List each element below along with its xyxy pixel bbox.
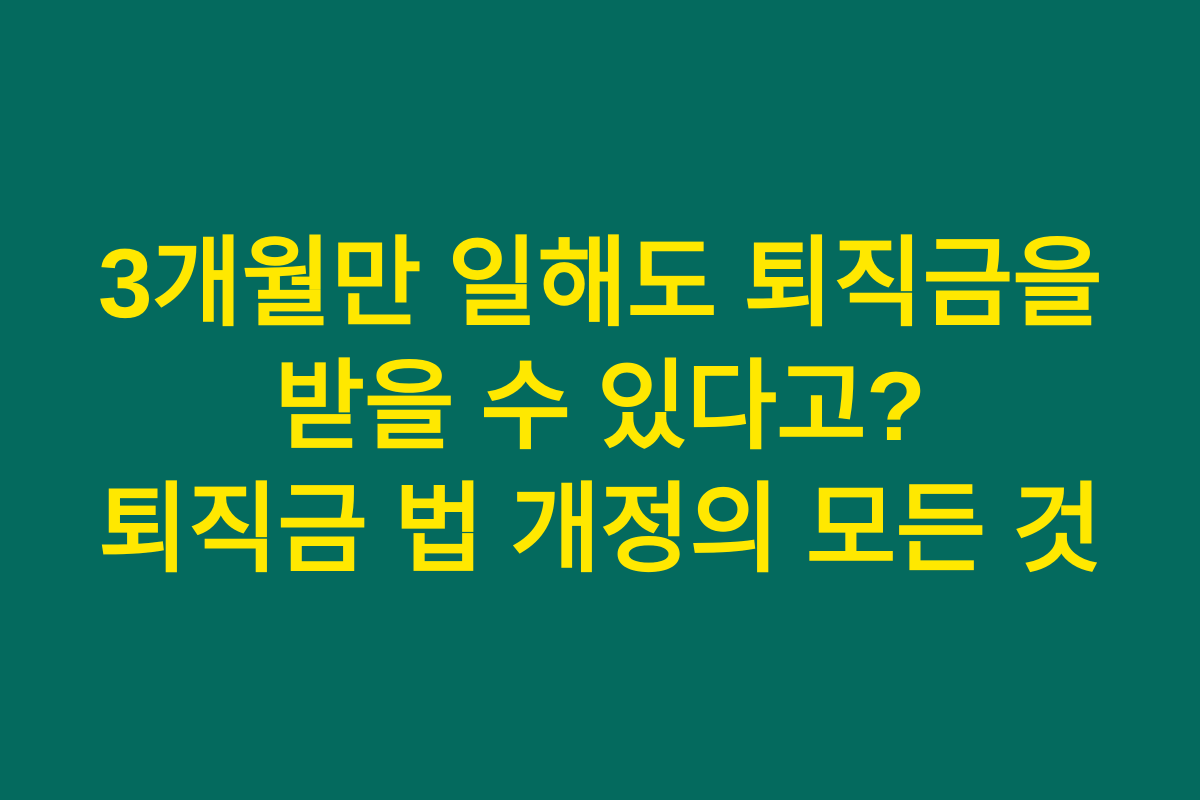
thumbnail-banner: 3개월만 일해도 퇴직금을 받을 수 있다고? 퇴직금 법 개정의 모든 것 [0, 0, 1200, 800]
headline: 3개월만 일해도 퇴직금을 받을 수 있다고? 퇴직금 법 개정의 모든 것 [0, 222, 1200, 591]
headline-line-1: 3개월만 일해도 퇴직금을 [0, 222, 1200, 345]
headline-line-3: 퇴직금 법 개정의 모든 것 [0, 468, 1200, 591]
headline-line-2: 받을 수 있다고? [0, 345, 1200, 468]
